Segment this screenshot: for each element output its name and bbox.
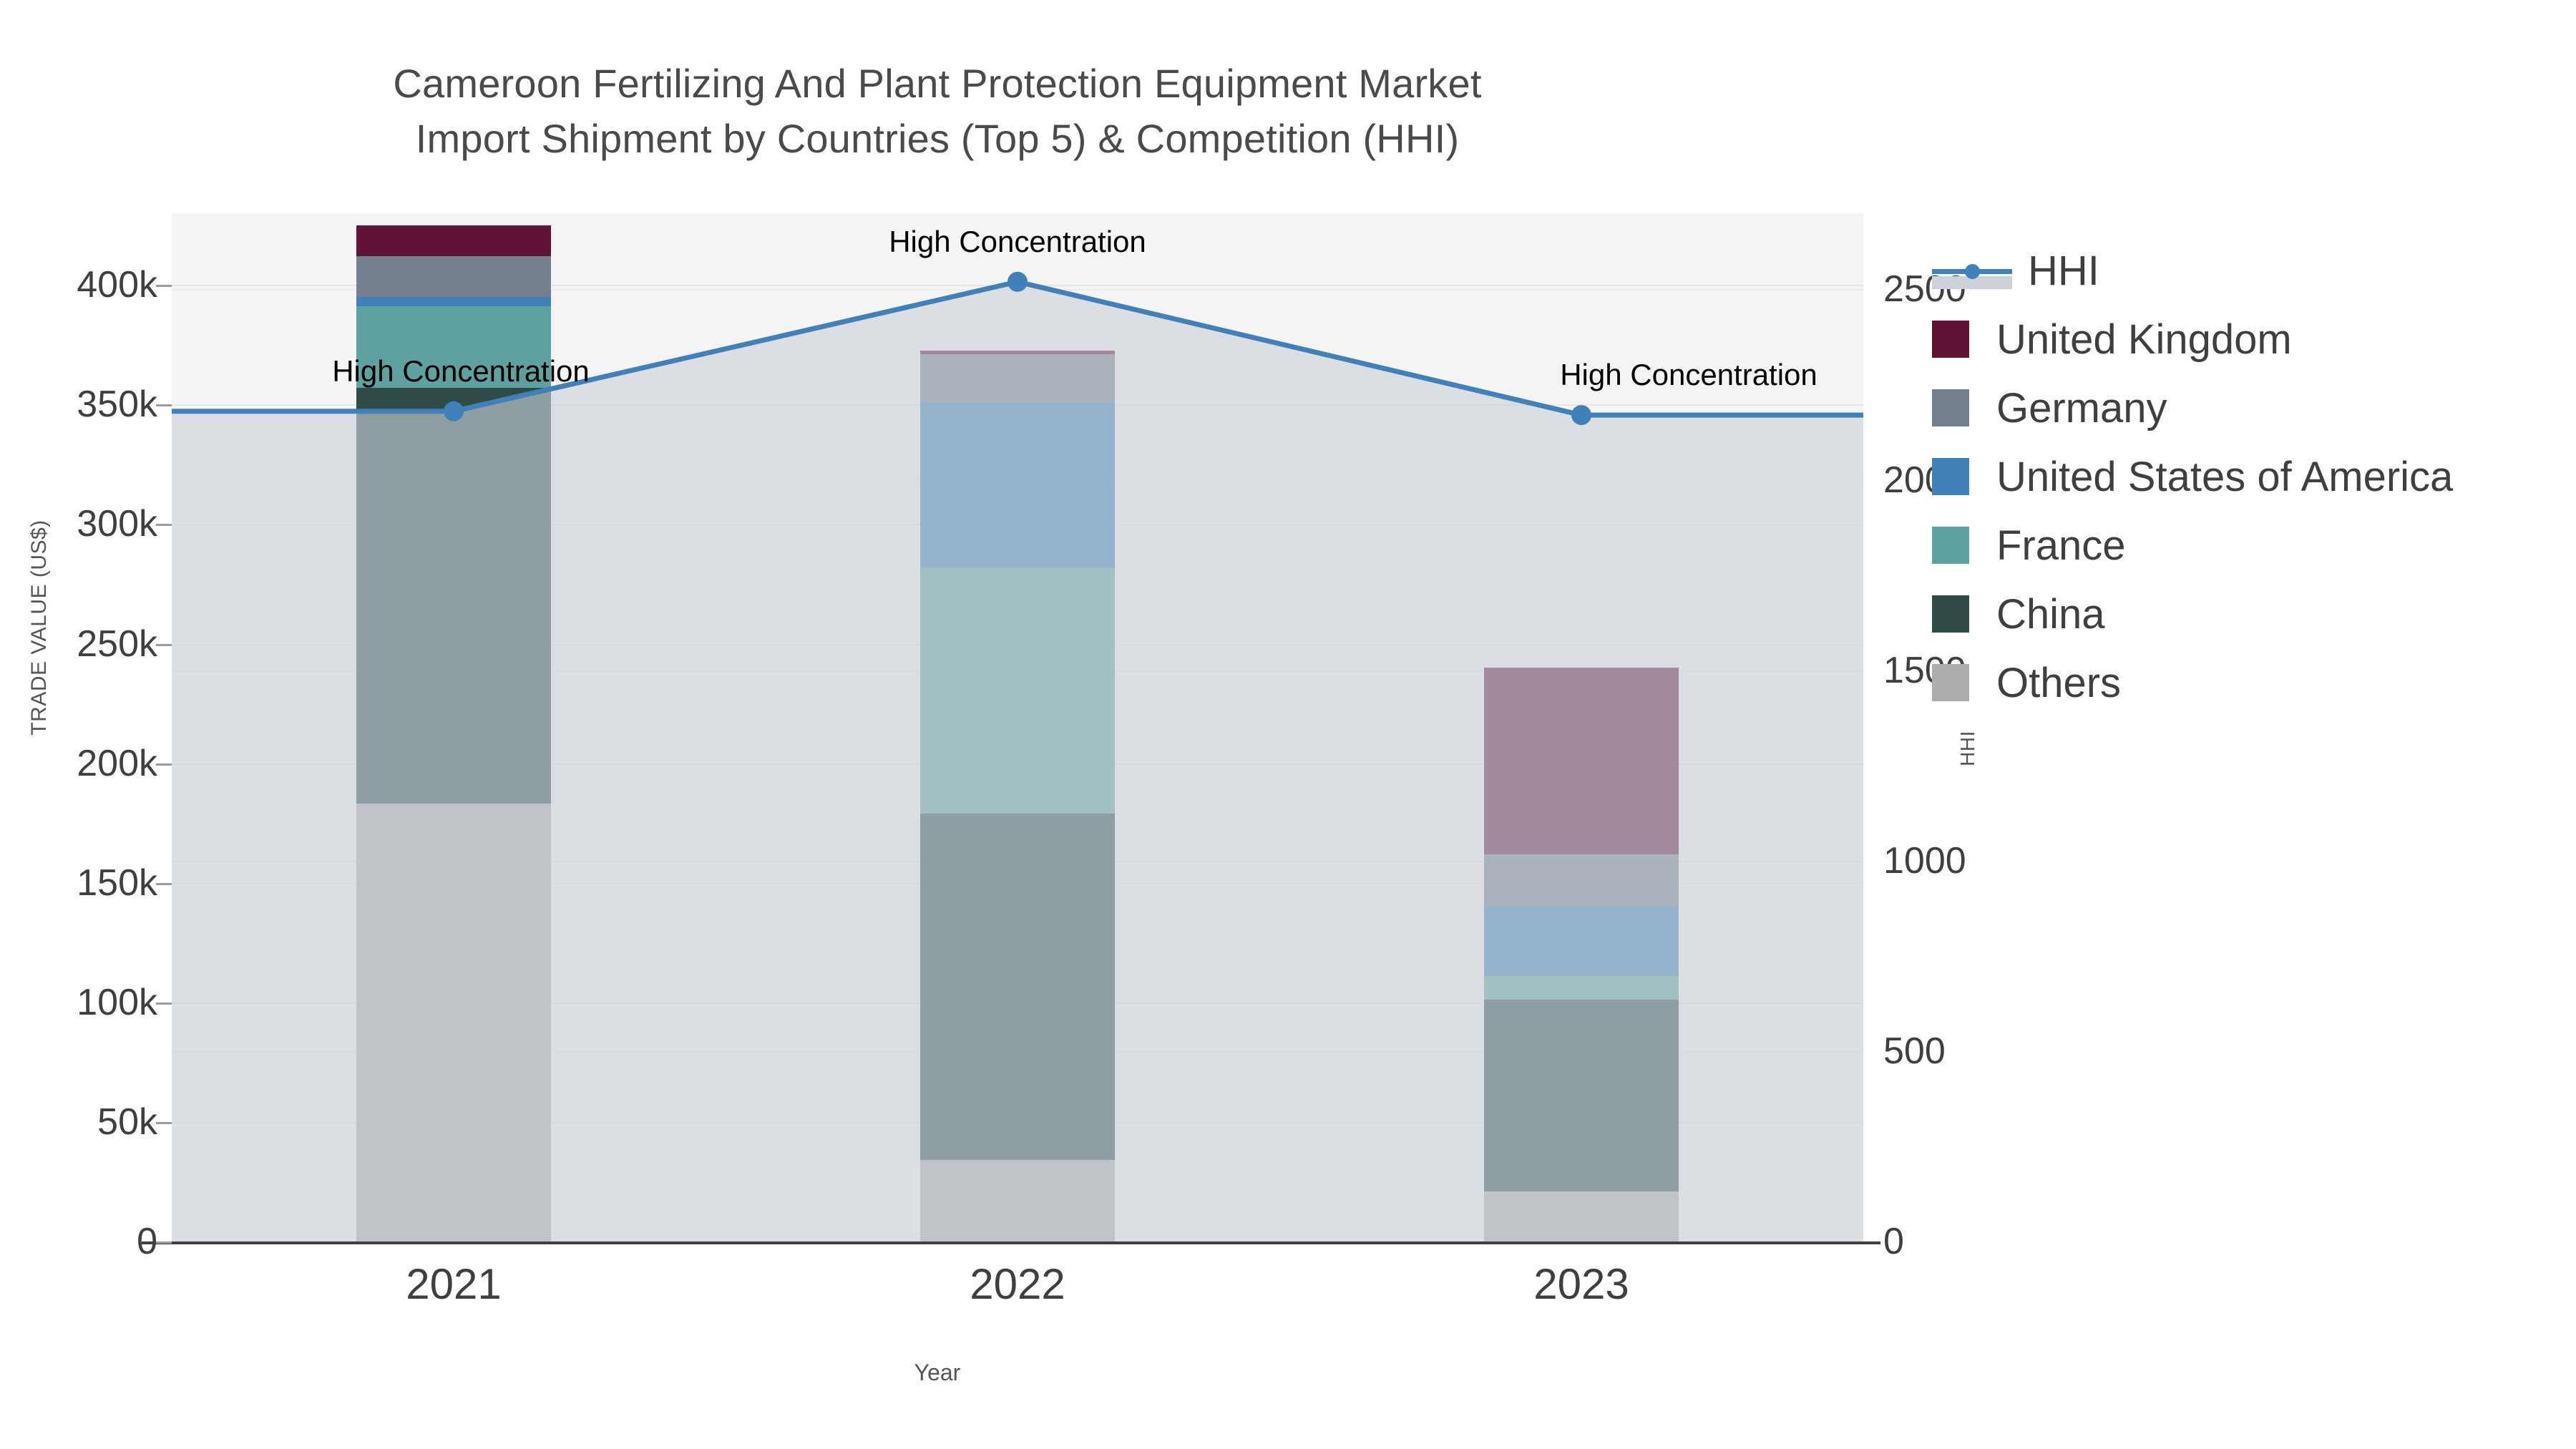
bar-segment[interactable] — [920, 567, 1115, 814]
x-tick-label: 2021 — [289, 1259, 618, 1309]
bar-segment[interactable] — [356, 256, 551, 297]
legend-item-label: France — [1996, 522, 2126, 570]
bar-segment[interactable] — [1484, 1000, 1679, 1191]
legend-item-label: HHI — [2028, 247, 2099, 295]
y-tick-mark-left — [156, 1241, 172, 1244]
legend-item[interactable]: France — [1932, 511, 2453, 580]
legend-item-label: Germany — [1996, 384, 2167, 432]
y-tick-label-left: 350k — [0, 383, 157, 426]
bar-segment[interactable] — [920, 351, 1115, 354]
y-axis-left-label: TRADE VALUE (US$) — [27, 441, 52, 814]
legend-item-label: United States of America — [1996, 453, 2453, 501]
y-tick-label-right: 500 — [1883, 1030, 1946, 1073]
bar-segment[interactable] — [1484, 907, 1679, 976]
bar-segment[interactable] — [920, 402, 1115, 567]
x-tick-label: 2023 — [1417, 1259, 1746, 1309]
bar-segment[interactable] — [356, 225, 551, 256]
annotation-high-concentration: High Concentration — [889, 225, 1146, 259]
legend-line-marker-icon — [1932, 252, 2012, 289]
x-axis-label: Year — [0, 1360, 1875, 1386]
y-tick-label-left: 400k — [0, 263, 157, 306]
y-tick-label-left: 100k — [0, 981, 157, 1024]
bar-segment[interactable] — [356, 804, 551, 1241]
bar-segment[interactable] — [1484, 1191, 1679, 1241]
y-tick-mark-left — [156, 763, 172, 766]
annotation-high-concentration: High Concentration — [1560, 358, 1818, 392]
legend-item[interactable]: Germany — [1932, 374, 2453, 442]
y-tick-mark-left — [156, 285, 172, 287]
chart-title-line2: Import Shipment by Countries (Top 5) & C… — [0, 111, 1875, 166]
y-tick-mark-left — [156, 404, 172, 406]
bar-segment[interactable] — [1484, 668, 1679, 854]
y-tick-mark-left — [156, 644, 172, 646]
bar-segment[interactable] — [920, 814, 1115, 1161]
legend-item[interactable]: Others — [1932, 648, 2453, 717]
bar-segment[interactable] — [1484, 976, 1679, 1000]
y-tick-mark-left — [156, 1122, 172, 1124]
y-tick-label-left: 150k — [0, 862, 157, 904]
bar-segment[interactable] — [356, 297, 551, 306]
bar-segment[interactable] — [920, 1160, 1115, 1241]
bar-segment[interactable] — [356, 388, 551, 804]
legend-item-label: Others — [1996, 659, 2121, 707]
legend-item[interactable]: HHI — [1932, 236, 2453, 305]
y-tick-label-right: 0 — [1883, 1220, 1904, 1263]
y-tick-label-right: 1000 — [1883, 839, 1966, 882]
chart-title-line1: Cameroon Fertilizing And Plant Protectio… — [393, 61, 1481, 106]
legend-swatch-icon — [1932, 389, 1969, 426]
legend-swatch-icon — [1932, 664, 1969, 701]
x-tick-label: 2022 — [853, 1259, 1182, 1309]
bar-segment[interactable] — [920, 354, 1115, 402]
legend-item-label: China — [1996, 590, 2105, 638]
y-tick-label-left: 300k — [0, 502, 157, 545]
legend-item[interactable]: United Kingdom — [1932, 305, 2453, 374]
legend-swatch-icon — [1932, 321, 1969, 358]
legend: HHIUnited KingdomGermanyUnited States of… — [1932, 236, 2453, 717]
y-tick-mark-left — [156, 1002, 172, 1005]
legend-item[interactable]: China — [1932, 580, 2453, 648]
bar-segment[interactable] — [1484, 854, 1679, 907]
legend-swatch-icon — [1932, 595, 1969, 633]
y-tick-label-left: 200k — [0, 742, 157, 785]
x-axis-line — [142, 1241, 1880, 1244]
y-tick-label-left: 250k — [0, 623, 157, 665]
annotation-high-concentration: High Concentration — [332, 354, 590, 389]
y-tick-mark-left — [156, 524, 172, 526]
legend-swatch-icon — [1932, 527, 1969, 564]
y-tick-mark-left — [156, 883, 172, 885]
legend-swatch-icon — [1932, 458, 1969, 495]
chart-title: Cameroon Fertilizing And Plant Protectio… — [0, 56, 1875, 167]
y-tick-label-left: 50k — [0, 1101, 157, 1143]
y-tick-label-left: 0 — [0, 1220, 157, 1263]
legend-item-label: United Kingdom — [1996, 316, 2292, 364]
legend-item[interactable]: United States of America — [1932, 442, 2453, 511]
chart-root: Cameroon Fertilizing And Plant Protectio… — [0, 0, 2576, 1449]
